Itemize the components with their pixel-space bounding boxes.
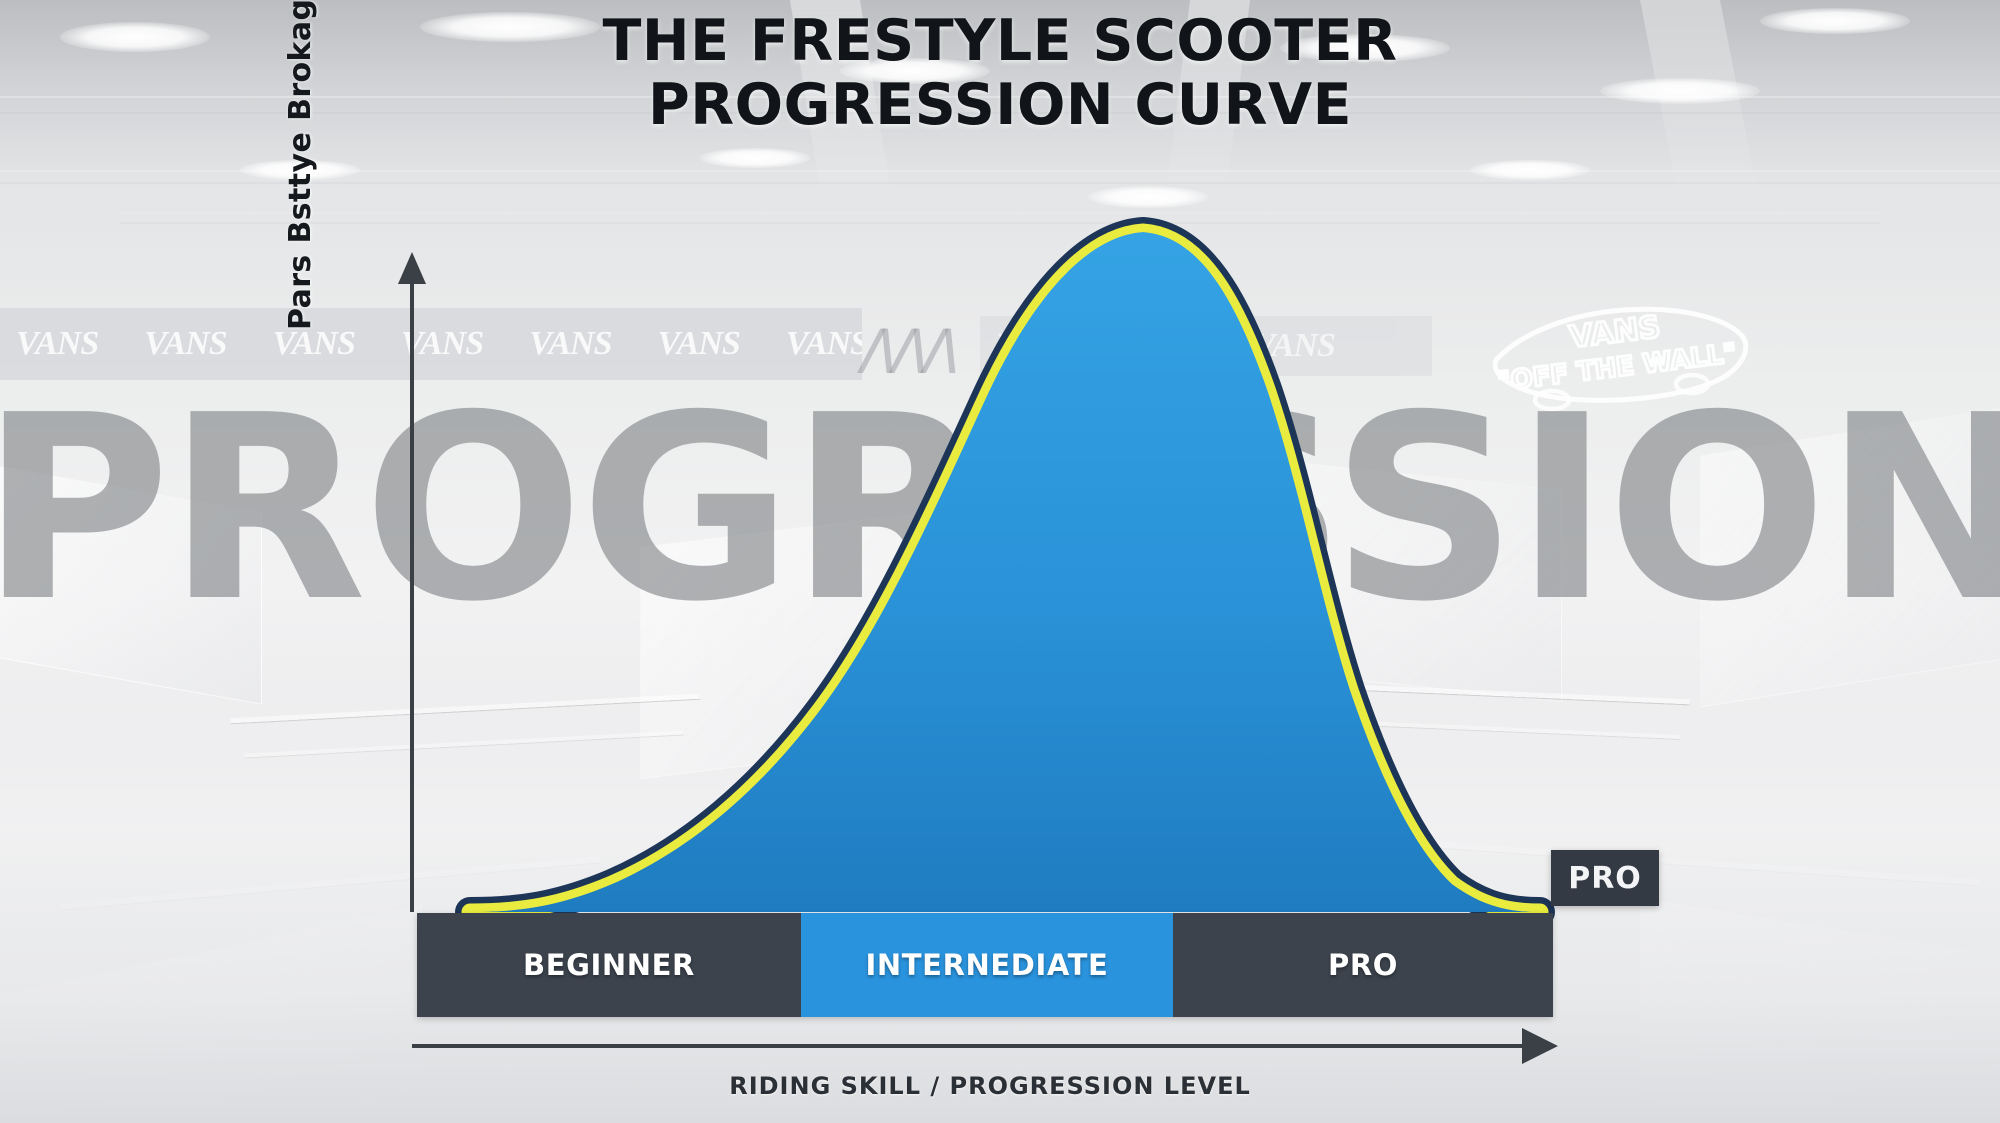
x-axis [412,1028,1558,1064]
y-axis [398,252,426,912]
level-segment-intermediate[interactable]: INTERNEDIATE [801,913,1173,1017]
level-segment-pro[interactable]: PRO [1173,913,1553,1017]
pro-badge: PRO [1551,850,1659,906]
level-segment-beginner[interactable]: BEGINNER [417,913,801,1017]
skill-level-bar: BEGINNER INTERNEDIATE PRO [417,913,1553,1017]
x-axis-label: RIDING SKILL / PROGRESSION LEVEL [430,1072,1550,1100]
y-axis-label: Pars Bsttye Brokage Feuency [283,0,318,330]
chart-canvas: VANSVANSVANS VANSVANSVANS VANS VANSVANSV… [0,0,2000,1123]
